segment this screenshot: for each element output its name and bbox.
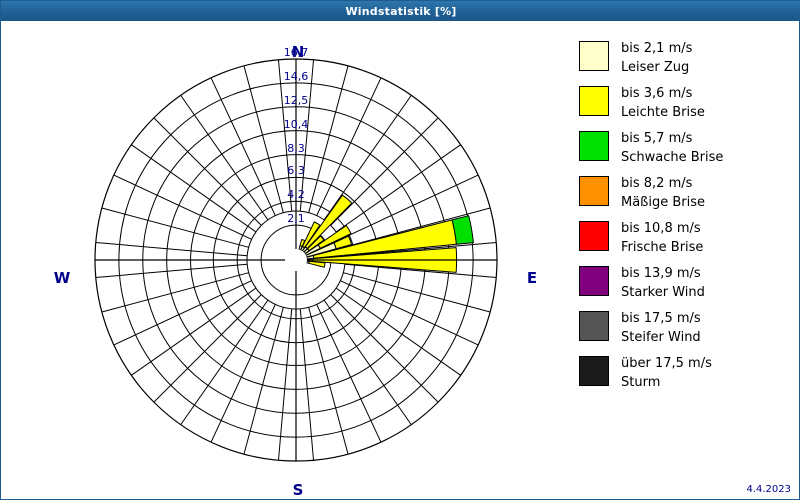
legend-speed-range: bis 5,7 m/s <box>621 129 723 148</box>
compass-label-west: W <box>32 271 92 286</box>
grid-spoke <box>278 309 291 460</box>
legend-speed-range: bis 10,8 m/s <box>621 219 703 238</box>
radial-tick-label: 10,4 <box>269 119 323 130</box>
legend-force-name: Leichte Brise <box>621 103 705 122</box>
legend-item: über 17,5 m/sSturm <box>579 354 789 392</box>
legend-swatch-icon <box>579 311 609 341</box>
legend-item: bis 13,9 m/sStarker Wind <box>579 264 789 302</box>
radial-tick-label: 14,6 <box>269 71 323 82</box>
radial-tick-label: 4,2 <box>269 189 323 200</box>
legend-label: bis 8,2 m/sMäßige Brise <box>621 174 705 212</box>
grid-spoke <box>96 242 247 255</box>
legend-swatch-icon <box>579 266 609 296</box>
legend-force-name: Mäßige Brise <box>621 193 705 212</box>
rose-hub <box>285 249 307 271</box>
legend-label: bis 5,7 m/sSchwache Brise <box>621 129 723 167</box>
chart-legend: bis 2,1 m/sLeiser Zugbis 3,6 m/sLeichte … <box>579 39 789 399</box>
legend-label: bis 10,8 m/sFrische Brise <box>621 219 703 257</box>
legend-item: bis 3,6 m/sLeichte Brise <box>579 84 789 122</box>
window-title: Windstatistik [%] <box>345 5 456 18</box>
radial-tick-label: 2,1 <box>269 213 323 224</box>
legend-item: bis 8,2 m/sMäßige Brise <box>579 174 789 212</box>
grid-spoke <box>300 309 313 460</box>
legend-swatch-icon <box>579 131 609 161</box>
legend-speed-range: bis 3,6 m/s <box>621 84 705 103</box>
legend-item: bis 5,7 m/sSchwache Brise <box>579 129 789 167</box>
legend-speed-range: bis 2,1 m/s <box>621 39 692 58</box>
legend-speed-range: bis 8,2 m/s <box>621 174 705 193</box>
legend-force-name: Frische Brise <box>621 238 703 257</box>
legend-label: über 17,5 m/sSturm <box>621 354 712 392</box>
date-stamp: 4.4.2023 <box>746 484 791 495</box>
legend-label: bis 2,1 m/sLeiser Zug <box>621 39 692 77</box>
legend-label: bis 17,5 m/sSteifer Wind <box>621 309 701 347</box>
radial-tick-label: 6,3 <box>269 165 323 176</box>
radial-tick-label: 8,3 <box>269 143 323 154</box>
legend-force-name: Sturm <box>621 373 712 392</box>
window-titlebar: Windstatistik [%] <box>1 1 800 21</box>
legend-speed-range: über 17,5 m/s <box>621 354 712 373</box>
legend-speed-range: bis 17,5 m/s <box>621 309 701 328</box>
legend-item: bis 2,1 m/sLeiser Zug <box>579 39 789 77</box>
legend-label: bis 13,9 m/sStarker Wind <box>621 264 705 302</box>
radial-tick-label: 16,7 <box>269 47 323 58</box>
legend-item: bis 17,5 m/sSteifer Wind <box>579 309 789 347</box>
compass-label-east: E <box>502 271 562 286</box>
legend-swatch-icon <box>579 221 609 251</box>
legend-force-name: Starker Wind <box>621 283 705 302</box>
legend-swatch-icon <box>579 176 609 206</box>
legend-swatch-icon <box>579 41 609 71</box>
legend-swatch-icon <box>579 86 609 116</box>
compass-label-south: S <box>268 483 328 498</box>
legend-swatch-icon <box>579 356 609 386</box>
wind-rose-petals <box>299 195 473 272</box>
legend-force-name: Steifer Wind <box>621 328 701 347</box>
legend-speed-range: bis 13,9 m/s <box>621 264 705 283</box>
wind-rose-window: Windstatistik [%] N S W E 2,14,26,38,310… <box>0 0 800 500</box>
radial-tick-label: 12,5 <box>269 95 323 106</box>
legend-force-name: Schwache Brise <box>621 148 723 167</box>
legend-item: bis 10,8 m/sFrische Brise <box>579 219 789 257</box>
legend-label: bis 3,6 m/sLeichte Brise <box>621 84 705 122</box>
grid-spoke <box>96 264 247 277</box>
legend-force-name: Leiser Zug <box>621 58 692 77</box>
